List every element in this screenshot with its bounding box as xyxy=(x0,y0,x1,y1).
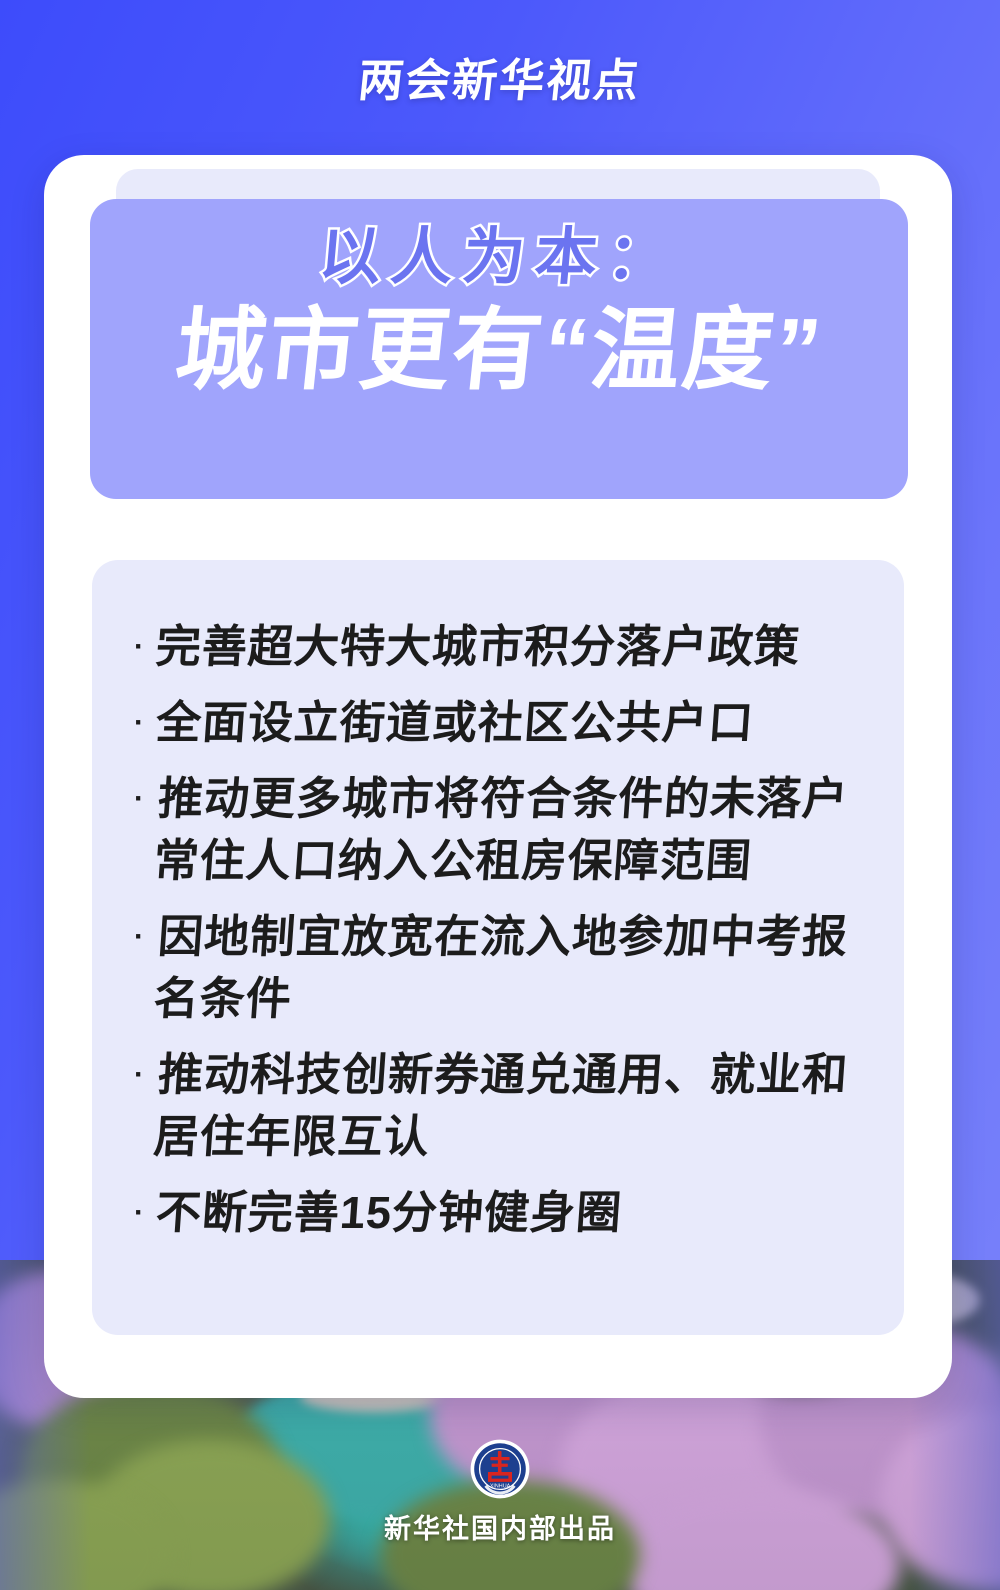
bullet-marker-icon: · xyxy=(122,1182,156,1244)
footer-credit: 新华社国内部出品 xyxy=(384,1507,616,1546)
bullet-list-panel: · 完善超大特大城市积分落户政策 · 全面设立街道或社区公共户口 · 推动更多城… xyxy=(92,560,904,1335)
list-item: · 完善超大特大城市积分落户政策 xyxy=(122,616,860,678)
list-item: · 不断完善15分钟健身圈 xyxy=(122,1182,860,1244)
bullet-marker-icon: · xyxy=(122,616,156,678)
list-item: · 推动科技创新券通兑通用、就业和居住年限互认 xyxy=(122,1044,860,1168)
bullet-marker-icon: · xyxy=(122,768,156,830)
title-line-1: 以人为本： xyxy=(316,221,682,294)
list-item: · 推动更多城市将符合条件的未落户常住人口纳入公租房保障范围 xyxy=(122,768,860,892)
list-item: · 全面设立街道或社区公共户口 xyxy=(122,692,860,754)
list-item-label: 因地制宜放宽在流入地参加中考报名条件 xyxy=(152,906,865,1030)
list-item-label: 不断完善15分钟健身圈 xyxy=(154,1182,862,1244)
title-speech-bubble: 以人为本： 城市更有“温度” xyxy=(90,199,908,499)
list-item-label: 全面设立街道或社区公共户口 xyxy=(154,692,862,754)
footer: XINHUA 新华社国内部出品 xyxy=(0,1439,1000,1546)
page-title: 两会新华视点 xyxy=(0,44,1000,109)
list-item-label: 完善超大特大城市积分落户政策 xyxy=(154,616,862,678)
svg-text:XINHUA: XINHUA xyxy=(490,1484,511,1490)
title-line-2: 城市更有“温度” xyxy=(170,298,827,404)
xinhua-news-agency-logo-icon: XINHUA xyxy=(470,1439,530,1499)
poster-root: 两会新华视点 以人为本： xyxy=(0,0,1000,1590)
list-item-label: 推动科技创新券通兑通用、就业和居住年限互认 xyxy=(152,1044,865,1168)
list-item: · 因地制宜放宽在流入地参加中考报名条件 xyxy=(122,906,860,1030)
list-item-label: 推动更多城市将符合条件的未落户常住人口纳入公租房保障范围 xyxy=(152,768,865,892)
bullet-marker-icon: · xyxy=(122,1044,156,1106)
content-card: 以人为本： 城市更有“温度” · 完善超大特大城市积分落户政策 · 全面设立街道… xyxy=(44,155,952,1398)
bullet-marker-icon: · xyxy=(122,692,156,754)
bullet-marker-icon: · xyxy=(122,906,156,968)
